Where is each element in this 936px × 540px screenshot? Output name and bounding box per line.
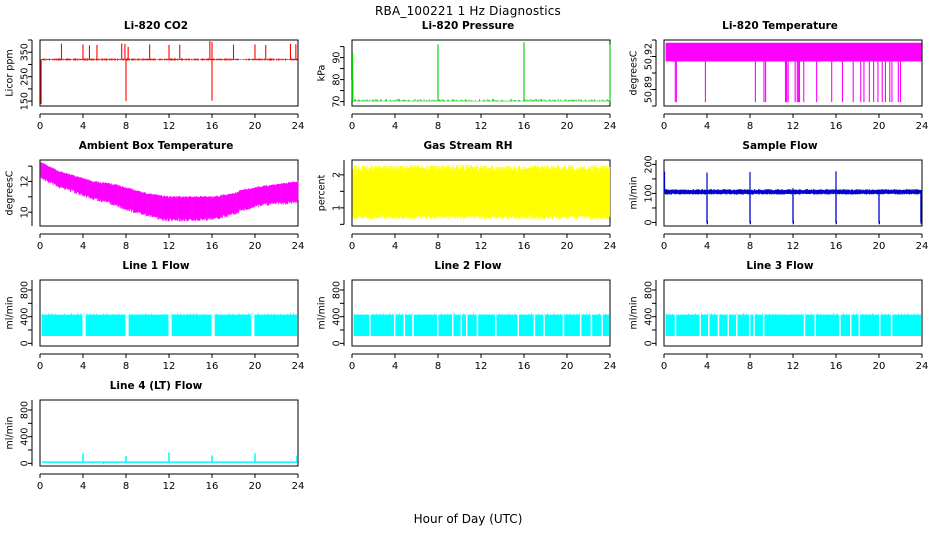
y-tick-label: 2: [332, 172, 343, 178]
y-axis-label: ml/min: [5, 296, 16, 329]
x-tick-label: 0: [349, 241, 355, 252]
x-tick-label: 24: [292, 241, 305, 252]
x-tick-label: 20: [873, 121, 886, 132]
panel-ambient-box-temperature: Ambient Box Temperature048121620241012de…: [0, 138, 312, 258]
plot-area: 04812162024150250350Licor ppm: [0, 18, 312, 138]
x-tick-label: 20: [873, 361, 886, 372]
y-tick-label: 50.89: [644, 76, 655, 103]
plot-area: 048121620240400800ml/min: [0, 258, 312, 378]
x-tick-label: 0: [661, 361, 667, 372]
x-tick-label: 0: [37, 241, 43, 252]
y-tick-label: 400: [20, 428, 31, 446]
x-tick-label: 4: [80, 241, 86, 252]
x-tick-label: 12: [787, 241, 800, 252]
y-tick-label: 250: [20, 68, 31, 86]
plot-area: 048121620240400800ml/min: [312, 258, 624, 378]
y-tick-label: 800: [644, 281, 655, 299]
y-tick-label: 150: [20, 92, 31, 110]
x-tick-label: 24: [916, 361, 929, 372]
x-tick-label: 16: [830, 121, 843, 132]
y-tick-label: 70: [332, 96, 343, 108]
y-axis-label: Licor ppm: [5, 49, 16, 96]
panel-li-820-temperature: Li-820 Temperature0481216202450.8950.92d…: [624, 18, 936, 138]
plot-area: 048121620240100200ml/min: [624, 138, 936, 258]
x-tick-label: 16: [830, 241, 843, 252]
x-tick-label: 8: [435, 241, 441, 252]
x-tick-label: 24: [604, 241, 617, 252]
x-tick-label: 8: [747, 241, 753, 252]
y-tick-label: 10: [20, 206, 31, 218]
x-tick-label: 12: [475, 361, 488, 372]
x-tick-label: 24: [916, 241, 929, 252]
y-tick-label: 0: [332, 340, 343, 346]
x-tick-label: 16: [206, 481, 219, 492]
y-axis-label: kPa: [317, 65, 328, 82]
x-tick-label: 16: [830, 361, 843, 372]
x-tick-label: 24: [916, 121, 929, 132]
x-tick-label: 8: [123, 121, 129, 132]
x-tick-label: 4: [80, 361, 86, 372]
x-tick-label: 24: [292, 481, 305, 492]
panel-li-820-pressure: Li-820 Pressure04812162024708090kPa: [312, 18, 624, 138]
x-tick-label: 20: [561, 121, 574, 132]
y-tick-label: 0: [20, 460, 31, 466]
x-tick-label: 4: [80, 121, 86, 132]
y-tick-label: 12: [20, 175, 31, 187]
plot-area: 048121620240400800ml/min: [0, 378, 312, 498]
panel-line-3-flow: Line 3 Flow048121620240400800ml/min: [624, 258, 936, 378]
x-tick-label: 20: [561, 361, 574, 372]
y-tick-label: 400: [332, 308, 343, 326]
x-tick-label: 8: [123, 361, 129, 372]
x-tick-label: 24: [292, 121, 305, 132]
panel-line-1-flow: Line 1 Flow048121620240400800ml/min: [0, 258, 312, 378]
y-axis-label: degreesC: [5, 170, 16, 215]
y-tick-label: 400: [644, 308, 655, 326]
x-tick-label: 8: [747, 361, 753, 372]
x-tick-label: 16: [518, 361, 531, 372]
plot-area: 0481216202412percent: [312, 138, 624, 258]
x-tick-label: 20: [561, 241, 574, 252]
x-tick-label: 12: [475, 121, 488, 132]
x-tick-label: 0: [349, 361, 355, 372]
x-tick-label: 24: [604, 121, 617, 132]
x-tick-label: 20: [249, 481, 262, 492]
x-tick-label: 8: [435, 121, 441, 132]
plot-area: 048121620241012degreesC: [0, 138, 312, 258]
x-tick-label: 16: [206, 121, 219, 132]
x-tick-label: 16: [206, 241, 219, 252]
y-axis-label: ml/min: [317, 296, 328, 329]
x-tick-label: 4: [392, 361, 398, 372]
y-tick-label: 100: [644, 184, 655, 202]
x-tick-label: 8: [435, 361, 441, 372]
figure-title: RBA_100221 1 Hz Diagnostics: [0, 4, 936, 18]
panel-sample-flow: Sample Flow048121620240100200ml/min: [624, 138, 936, 258]
y-axis-label: ml/min: [5, 416, 16, 449]
x-tick-label: 4: [392, 121, 398, 132]
x-tick-label: 12: [163, 361, 176, 372]
y-axis-label: ml/min: [629, 176, 640, 209]
x-tick-label: 0: [37, 361, 43, 372]
x-tick-label: 8: [123, 241, 129, 252]
x-tick-label: 16: [518, 241, 531, 252]
figure-xaxis-label: Hour of Day (UTC): [0, 512, 936, 526]
x-tick-label: 16: [206, 361, 219, 372]
x-tick-label: 4: [704, 121, 710, 132]
y-tick-label: 80: [332, 74, 343, 86]
x-tick-label: 20: [249, 361, 262, 372]
x-tick-label: 0: [37, 121, 43, 132]
panel-line-2-flow: Line 2 Flow048121620240400800ml/min: [312, 258, 624, 378]
x-tick-label: 4: [80, 481, 86, 492]
y-axis-label: percent: [317, 175, 328, 212]
panel-line-4-lt-flow: Line 4 (LT) Flow048121620240400800ml/min: [0, 378, 312, 498]
y-tick-label: 0: [20, 340, 31, 346]
x-tick-label: 20: [873, 241, 886, 252]
y-tick-label: 0: [644, 340, 655, 346]
x-tick-label: 4: [392, 241, 398, 252]
x-tick-label: 8: [123, 481, 129, 492]
y-axis-label: ml/min: [629, 296, 640, 329]
x-tick-label: 12: [475, 241, 488, 252]
x-tick-label: 20: [249, 121, 262, 132]
x-tick-label: 12: [163, 121, 176, 132]
y-tick-label: 1: [332, 205, 343, 211]
x-tick-label: 20: [249, 241, 262, 252]
x-tick-label: 12: [787, 121, 800, 132]
panel-li-820-co2: Li-820 CO204812162024150250350Licor ppm: [0, 18, 312, 138]
diagnostics-figure: RBA_100221 1 Hz Diagnostics Hour of Day …: [0, 0, 936, 540]
x-tick-label: 12: [787, 361, 800, 372]
y-tick-label: 800: [332, 281, 343, 299]
y-tick-label: 200: [644, 155, 655, 173]
plot-area: 04812162024708090kPa: [312, 18, 624, 138]
x-tick-label: 4: [704, 361, 710, 372]
panel-gas-stream-rh: Gas Stream RH0481216202412percent: [312, 138, 624, 258]
x-tick-label: 0: [37, 481, 43, 492]
y-tick-label: 0: [644, 219, 655, 225]
x-tick-label: 0: [661, 241, 667, 252]
x-tick-label: 4: [704, 241, 710, 252]
y-tick-label: 800: [20, 281, 31, 299]
y-tick-label: 50.92: [644, 43, 655, 70]
x-tick-label: 0: [349, 121, 355, 132]
y-tick-label: 90: [332, 52, 343, 64]
y-tick-label: 350: [20, 43, 31, 61]
x-tick-label: 16: [518, 121, 531, 132]
x-tick-label: 12: [163, 481, 176, 492]
x-tick-label: 8: [747, 121, 753, 132]
x-tick-label: 12: [163, 241, 176, 252]
x-tick-label: 24: [292, 361, 305, 372]
y-tick-label: 400: [20, 308, 31, 326]
plot-area: 048121620240400800ml/min: [624, 258, 936, 378]
plot-area: 0481216202450.8950.92degreesC: [624, 18, 936, 138]
x-tick-label: 0: [661, 121, 667, 132]
y-tick-label: 800: [20, 401, 31, 419]
y-axis-label: degreesC: [629, 50, 640, 95]
x-tick-label: 24: [604, 361, 617, 372]
